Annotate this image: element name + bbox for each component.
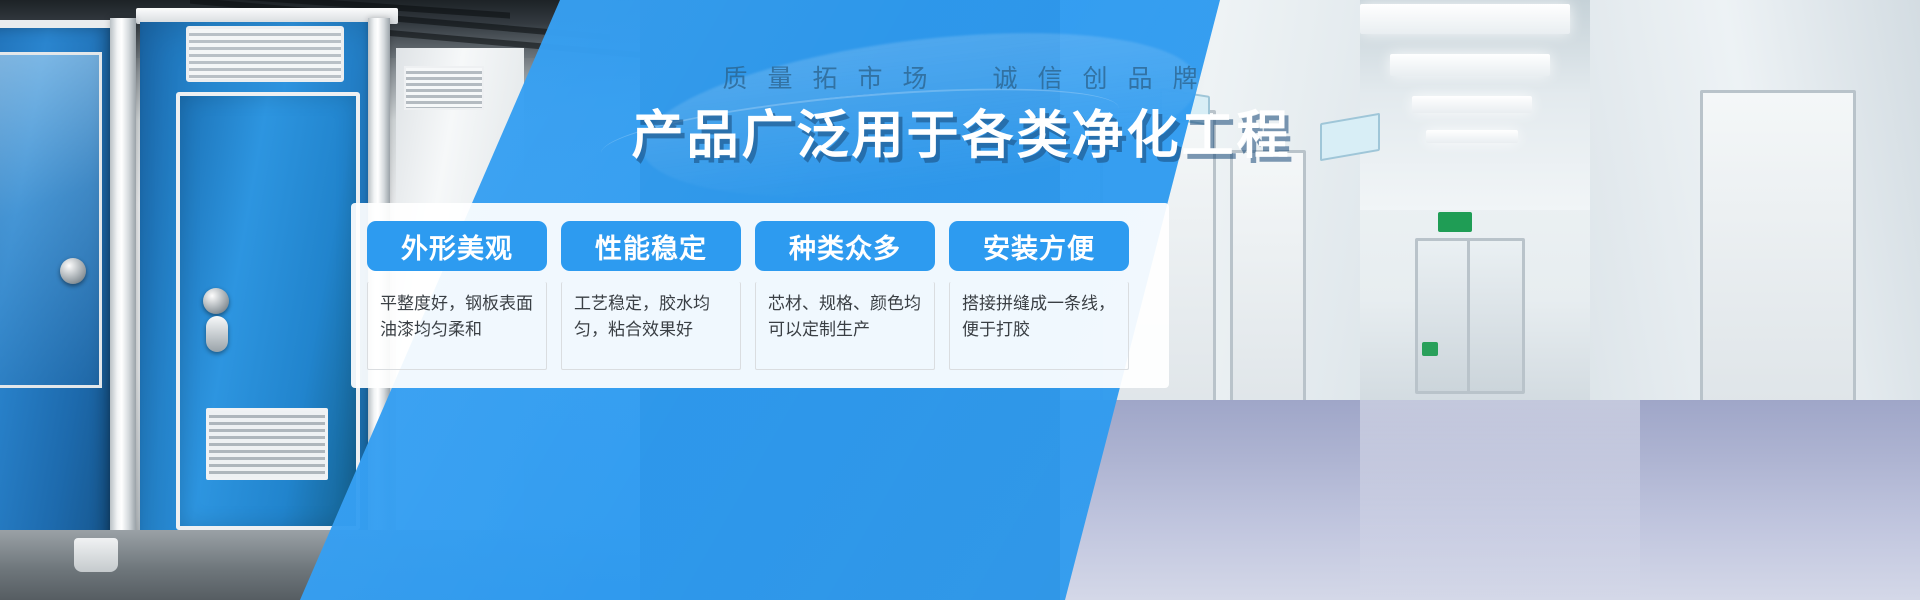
feature-card[interactable]: 外形美观 平整度好，钢板表面油漆均匀柔和	[367, 221, 547, 370]
feature-card-text: 搭接拼缝成一条线，便于打胶	[949, 282, 1129, 370]
feature-card-title: 性能稳定	[561, 221, 741, 271]
floor-object	[74, 538, 118, 572]
cabin-lock	[60, 258, 86, 284]
ceiling-light	[1360, 4, 1570, 34]
double-door	[1467, 238, 1525, 394]
floor-light-reflection	[1360, 400, 1640, 600]
feature-card-title: 外形美观	[367, 221, 547, 271]
feature-card-title: 种类众多	[755, 221, 935, 271]
headline-block: 质量拓市场 诚信创品牌 产品广泛用于各类净化工程	[0, 64, 1920, 165]
safety-marker	[1422, 342, 1438, 356]
double-door	[1415, 238, 1473, 394]
cabin-door-handle	[206, 316, 228, 352]
feature-card[interactable]: 种类众多 芯材、规格、颜色均可以定制生产	[755, 221, 935, 370]
feature-card[interactable]: 安装方便 搭接拼缝成一条线，便于打胶	[949, 221, 1129, 370]
banner-subtitle: 质量拓市场 诚信创品牌	[0, 64, 1920, 94]
promo-banner: 质量拓市场 诚信创品牌 产品广泛用于各类净化工程 外形美观 平整度好，钢板表面油…	[0, 0, 1920, 600]
feature-card-text: 平整度好，钢板表面油漆均匀柔和	[367, 282, 547, 370]
feature-cards-panel: 外形美观 平整度好，钢板表面油漆均匀柔和 性能稳定 工艺稳定，胶水均匀，粘合效果…	[351, 203, 1169, 388]
banner-headline: 产品广泛用于各类净化工程	[0, 108, 1920, 165]
feature-card-text: 芯材、规格、颜色均可以定制生产	[755, 282, 935, 370]
feature-card[interactable]: 性能稳定 工艺稳定，胶水均匀，粘合效果好	[561, 221, 741, 370]
exit-sign	[1438, 212, 1472, 232]
feature-card-text: 工艺稳定，胶水均匀，粘合效果好	[561, 282, 741, 370]
cabin-door-lock	[203, 288, 229, 314]
cabin-door-louver	[206, 408, 328, 480]
feature-card-title: 安装方便	[949, 221, 1129, 271]
